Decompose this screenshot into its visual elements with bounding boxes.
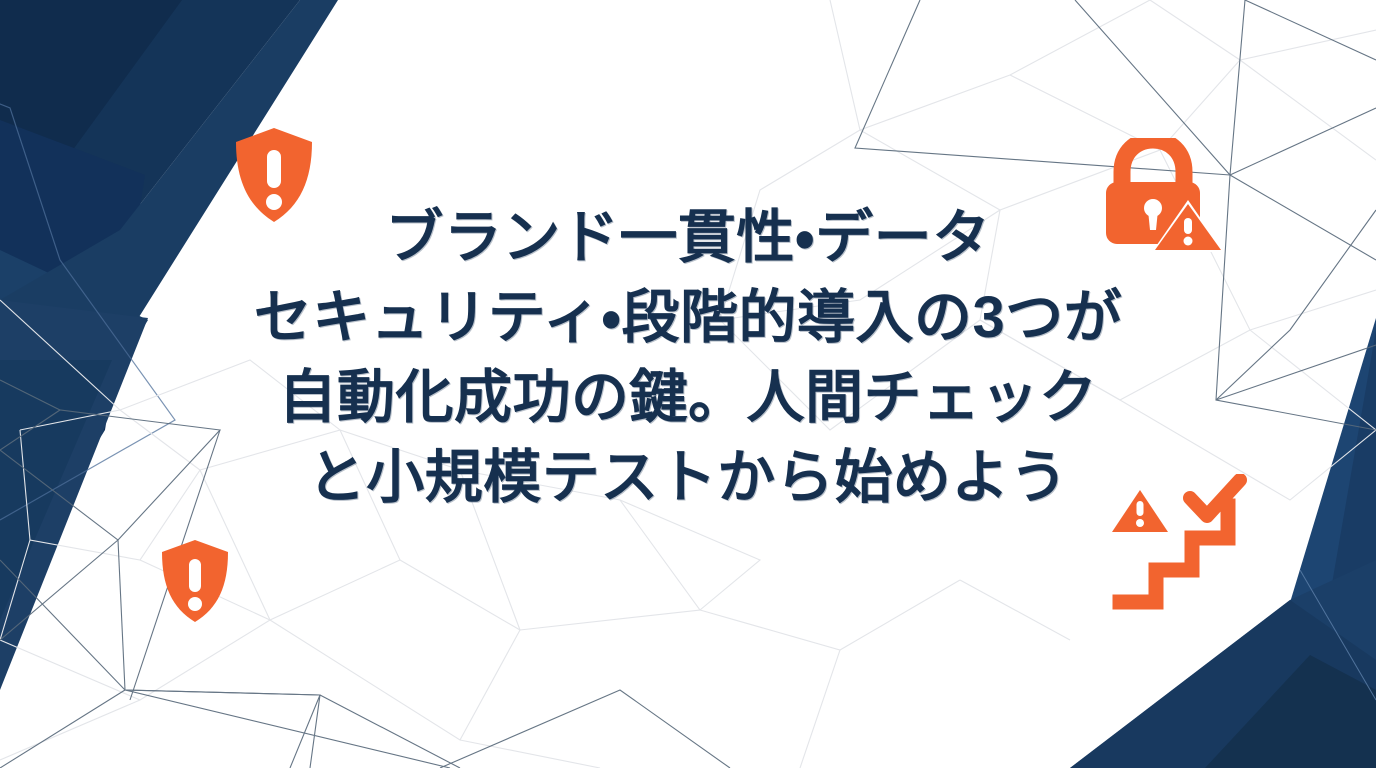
lock-shackle [1122,140,1184,186]
warning-exclamation-bar [1137,501,1144,516]
exclamation-bar [189,559,201,592]
network-line-pattern [0,0,1376,768]
exclamation-bar [267,150,281,188]
steps-check-alert-icon [1112,474,1262,614]
warning-exclamation-dot [1184,237,1193,246]
exclamation-dot [266,194,282,210]
network-dark-lines [0,0,1376,768]
network-light-lines [0,0,1376,768]
steps-check-alert-glyph [1112,474,1262,614]
warning-exclamation-bar [1184,218,1192,234]
exclamation-dot [188,597,202,611]
shield-alert-icon [232,126,316,224]
shield-alert-icon [158,538,232,624]
slide-canvas: ブランド一貫性・データ セキュリティ・段階的導入の3つが 自動化成功の鍵。人間チ… [0,0,1376,768]
shield-alert-glyph [158,538,232,624]
lock-alert-icon [1100,138,1226,256]
shield-alert-glyph [232,126,316,224]
lock-alert-glyph [1100,138,1226,256]
warning-exclamation-dot [1136,519,1144,527]
